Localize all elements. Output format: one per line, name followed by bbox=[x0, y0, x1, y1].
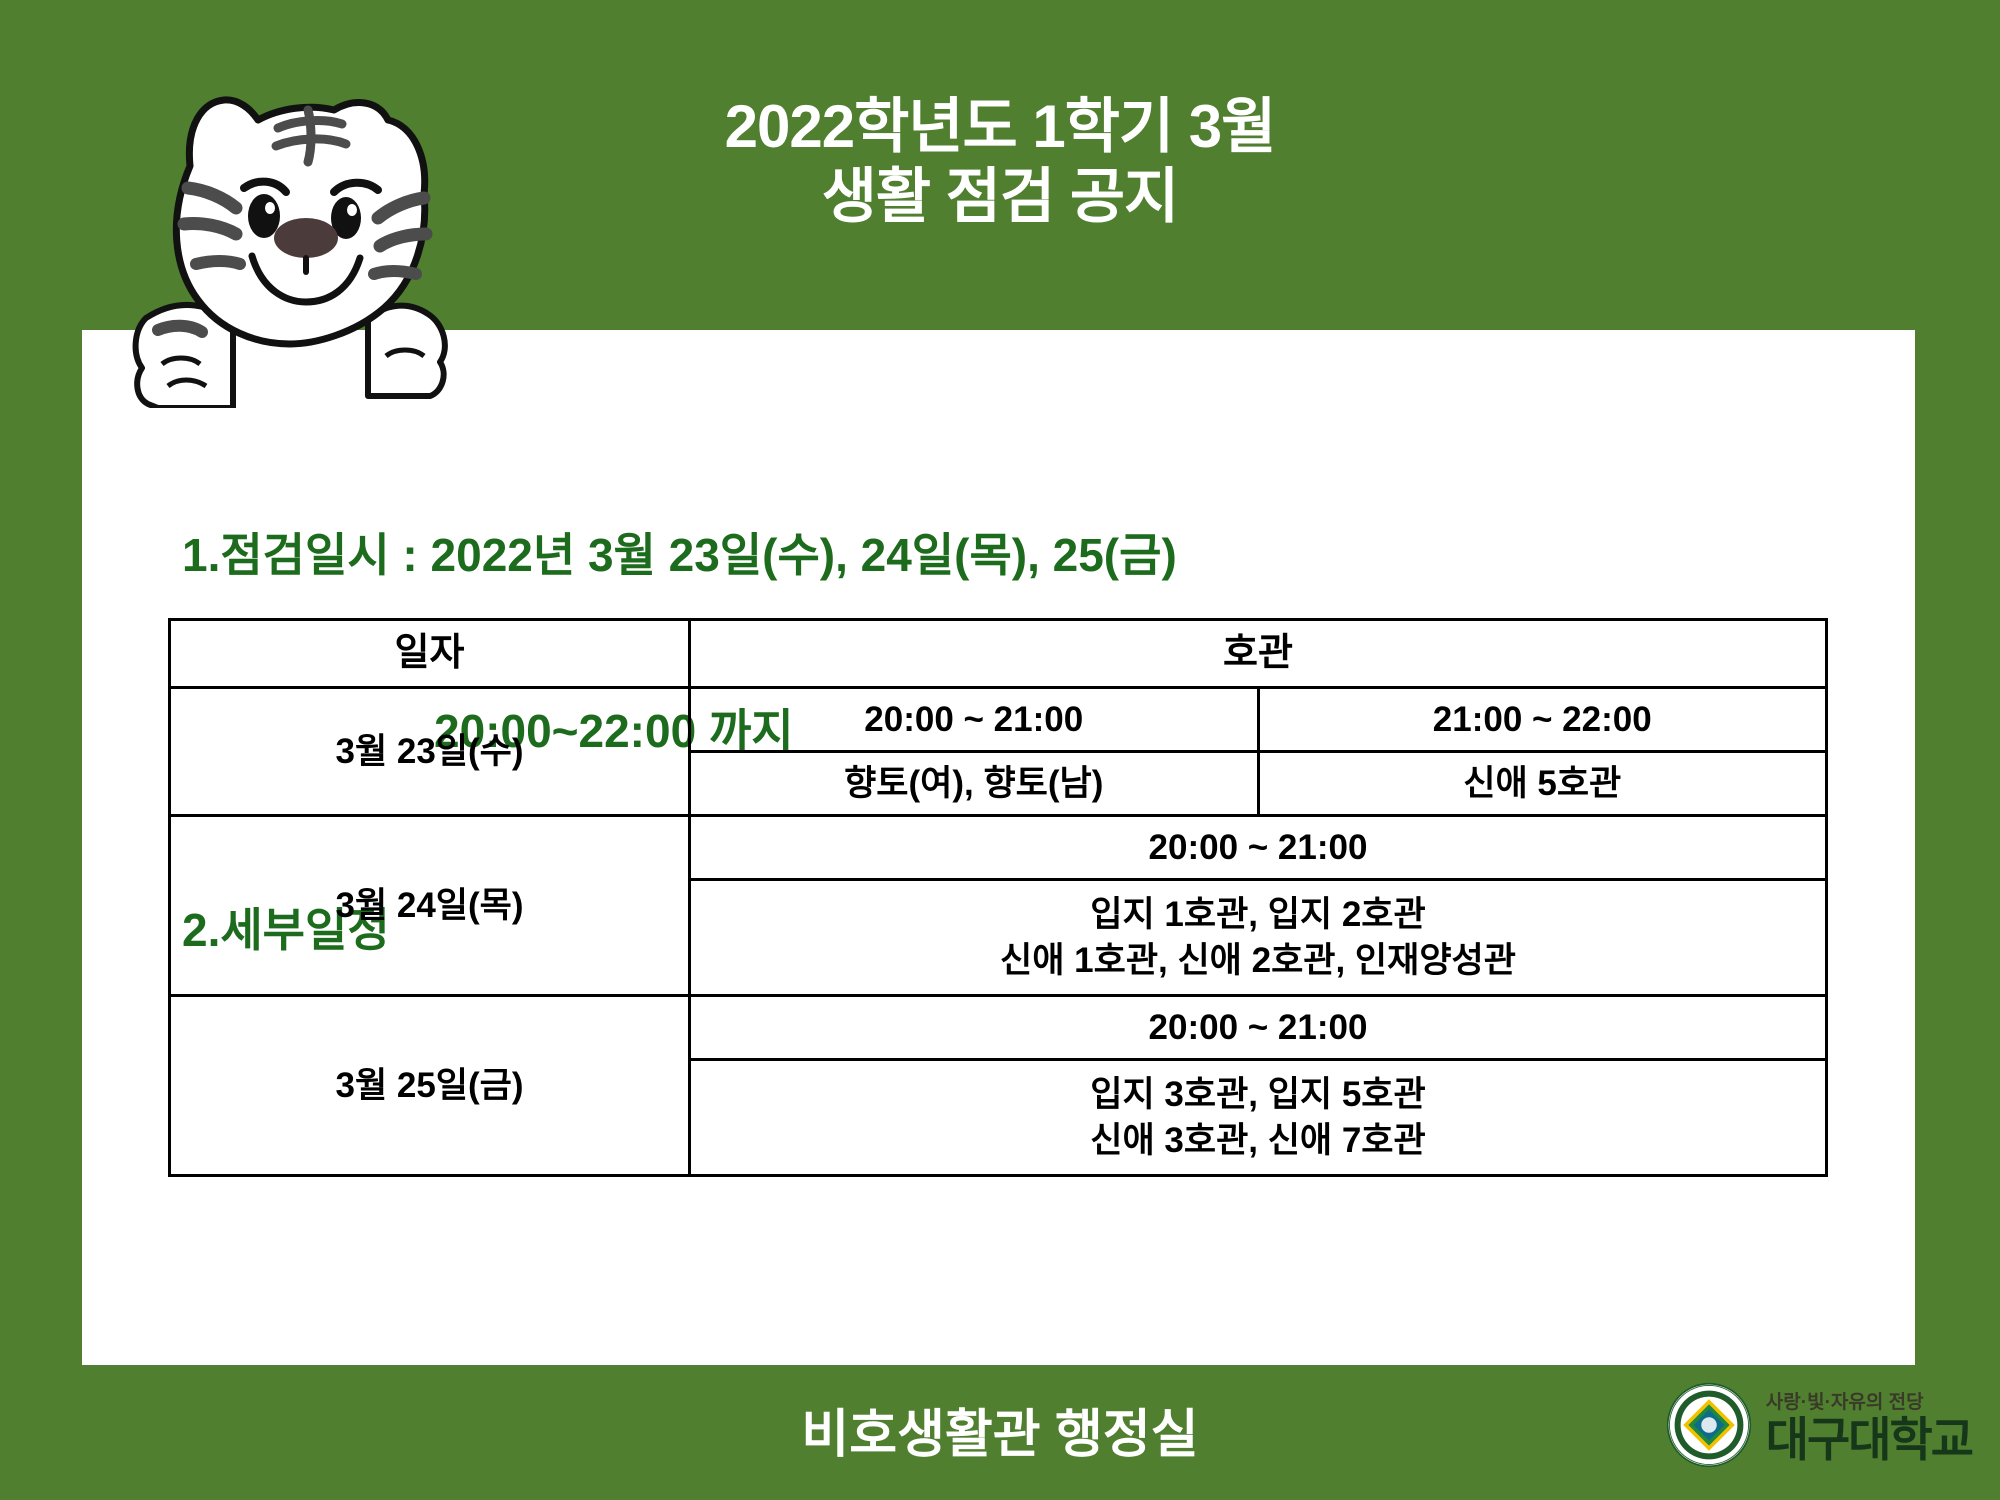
daegu-university-emblem-icon bbox=[1666, 1382, 1752, 1468]
white-tiger-mascot-icon bbox=[128, 68, 458, 408]
row-2-slot-0-places: 입지 3호관, 입지 5호관 신애 3호관, 신애 7호관 bbox=[690, 1060, 1827, 1176]
poster-root: { "colors": { "background_green": "#4f7f… bbox=[0, 0, 2000, 1500]
row-0-slot-0-time: 20:00 ~ 21:00 bbox=[690, 688, 1259, 752]
row-0-slot-1-time: 21:00 ~ 22:00 bbox=[1258, 688, 1827, 752]
row-date-1: 3월 24일(목) bbox=[170, 816, 690, 996]
row-1-slot-0-places: 입지 1호관, 입지 2호관 신애 1호관, 신애 2호관, 인재양성관 bbox=[690, 880, 1827, 996]
header-cell-date: 일자 bbox=[170, 620, 690, 688]
brand-wordmark: 사랑·빛·자유의 전당 대구대학교 bbox=[1766, 1387, 1972, 1463]
row-date-0: 3월 23일(수) bbox=[170, 688, 690, 816]
row-2-slot-0-time: 20:00 ~ 21:00 bbox=[690, 996, 1827, 1060]
university-brand: 사랑·빛·자유의 전당 대구대학교 bbox=[1666, 1382, 1972, 1468]
brand-tagline: 사랑·빛·자유의 전당 bbox=[1766, 1387, 1972, 1414]
row-0-slot-0-places: 향토(여), 향토(남) bbox=[690, 752, 1259, 816]
schedule-table: 일자 호관 3월 23일(수) 20:00 ~ 21:00 21:00 ~ 22… bbox=[168, 618, 1828, 1177]
table-row: 3월 25일(금) 20:00 ~ 21:00 bbox=[170, 996, 1827, 1060]
table-header-row: 일자 호관 bbox=[170, 620, 1827, 688]
header-cell-building: 호관 bbox=[690, 620, 1827, 688]
row-0-slot-1-places: 신애 5호관 bbox=[1258, 752, 1827, 816]
table-row: 3월 24일(목) 20:00 ~ 21:00 bbox=[170, 816, 1827, 880]
content-panel: 1.점검일시 : 2022년 3월 23일(수), 24일(목), 25(금) … bbox=[82, 330, 1915, 1365]
brand-name: 대구대학교 bbox=[1766, 1416, 1972, 1463]
notice-item1-line1: 1.점검일시 : 2022년 3월 23일(수), 24일(목), 25(금) bbox=[82, 526, 1915, 585]
row-1-slot-0-time: 20:00 ~ 21:00 bbox=[690, 816, 1827, 880]
row-date-2: 3월 25일(금) bbox=[170, 996, 690, 1176]
table-row: 3월 23일(수) 20:00 ~ 21:00 21:00 ~ 22:00 bbox=[170, 688, 1827, 752]
